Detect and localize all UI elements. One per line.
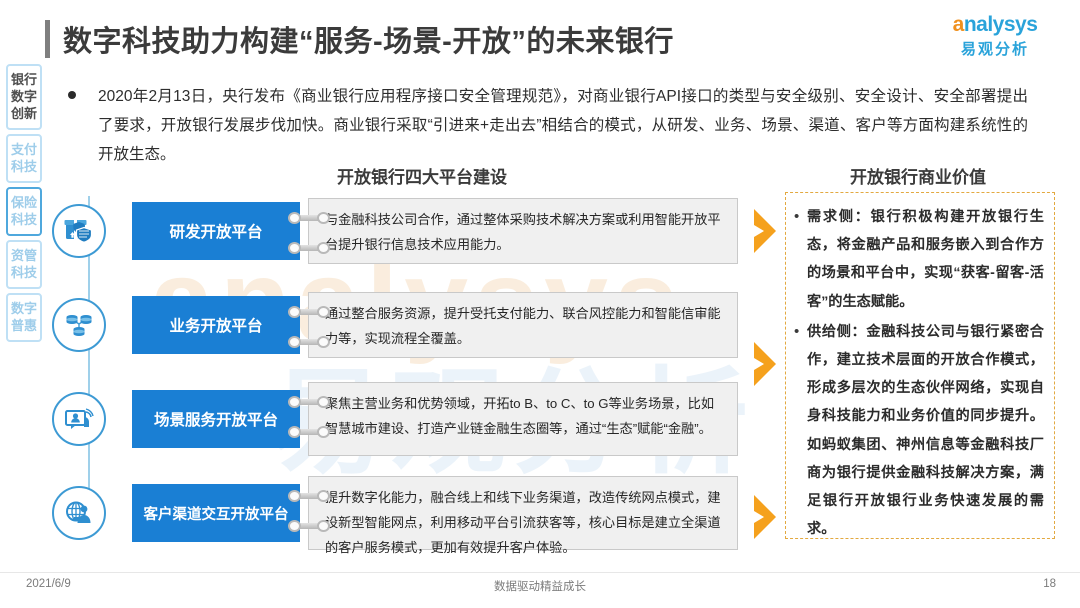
left-column-header: 开放银行四大平台建设 [337,163,507,188]
chain-link-icon [288,212,330,256]
title-accent-bar [45,20,50,58]
business-value-text: 需求侧：银行积极构建开放银行生态，将金融产品和服务嵌入到合作方的场景和平台中，实… [807,203,1044,316]
intro-paragraph: 2020年2月13日，央行发布《商业银行应用程序接口安全管理规范》，对商业银行A… [68,82,1028,169]
arrow-right-icon-1 [752,207,786,255]
footer-tagline: 数据驱动精益成长 [0,578,1080,594]
sidebar-item-payment-tech[interactable]: 支付科技 [6,134,42,183]
platform-description-4: 提升数字化能力，融合线上和线下业务渠道，改造传统网点模式，建设新型智能网点，利用… [308,476,738,550]
sidebar-item-bank-digital-innovation[interactable]: 银行数字创新 [6,64,42,130]
sidebar-item-label: 资管科技 [11,248,37,280]
chain-link-icon [288,306,330,350]
sidebar-item-label: 支付科技 [11,142,37,174]
arrow-right-icon-3 [752,493,786,541]
platform-description-text: 提升数字化能力，融合线上和线下业务渠道，改造传统网点模式，建设新型智能网点，利用… [325,490,721,555]
platform-name-1[interactable]: 研发开放平台 [132,202,300,260]
platform-description-text: 通过整合服务资源，提升受托支付能力、联合风控能力和智能信审能力等，实现流程全覆盖… [325,306,721,346]
title-text: 数字科技助力构建“服务-场景-开放”的未来银行 [63,18,674,60]
chain-link-icon [288,396,330,440]
platform-name-label: 客户渠道交互开放平台 [144,503,289,524]
business-value-item-1: • 需求侧：银行积极构建开放银行生态，将金融产品和服务嵌入到合作方的场景和平台中… [794,203,1044,316]
logo-chinese: 易观分析 [930,38,1060,59]
platform-name-3[interactable]: 场景服务开放平台 [132,390,300,448]
bullet-icon: • [794,318,804,544]
business-value-item-2: • 供给侧：金融科技公司与银行紧密合作，建立技术层面的开放合作模式，形成多层次的… [794,318,1044,544]
video-customer-icon [52,392,106,446]
platform-description-1: 与金融科技公司合作，通过整体采购技术解决方案或利用智能开放平台提升银行信息技术应… [308,198,738,264]
database-merge-icon [52,298,106,352]
sidebar-tabs: 银行数字创新 支付科技 保险科技 资管科技 数字普惠 [6,64,40,346]
bullet-icon: • [794,203,804,316]
sidebar-item-digital-inclusive-finance[interactable]: 数字普惠 [6,293,42,342]
platform-row-3: 场景服务开放平台 聚焦主营业务和优势领域，开拓to B、to C、to G等业务… [52,382,738,456]
platform-row-4: 客户渠道交互开放平台 提升数字化能力，融合线上和线下业务渠道，改造传统网点模式，… [52,476,738,550]
package-shield-icon [52,204,106,258]
sidebar-item-label: 保险科技 [11,195,37,227]
logo-rest: nalysys [964,13,1038,36]
platform-description-text: 聚焦主营业务和优势领域，开拓to B、to C、to G等业务场景，比如智慧城市… [325,396,714,436]
platform-row-2: 业务开放平台 通过整合服务资源，提升受托支付能力、联合风控能力和智能信审能力等，… [52,292,738,358]
platform-name-2[interactable]: 业务开放平台 [132,296,300,354]
business-value-text: 供给侧：金融科技公司与银行紧密合作，建立技术层面的开放合作模式，形成多层次的生态… [807,318,1044,544]
intro-text: 2020年2月13日，央行发布《商业银行应用程序接口安全管理规范》，对商业银行A… [98,82,1028,169]
platform-description-3: 聚焦主营业务和优势领域，开拓to B、to C、to G等业务场景，比如智慧城市… [308,382,738,456]
page-title: 数字科技助力构建“服务-场景-开放”的未来银行 [45,18,674,60]
platform-name-label: 研发开放平台 [169,220,262,242]
footer-page-number: 18 [1043,578,1056,590]
logo-wordmark: analysys [930,14,1060,35]
sidebar-item-label: 银行数字创新 [11,72,37,121]
footer-divider [0,572,1080,573]
platform-row-1: 研发开放平台 与金融科技公司合作，通过整体采购技术解决方案或利用智能开放平台提升… [52,198,738,264]
platform-description-2: 通过整合服务资源，提升受托支付能力、联合风控能力和智能信审能力等，实现流程全覆盖… [308,292,738,358]
platform-description-text: 与金融科技公司合作，通过整体采购技术解决方案或利用智能开放平台提升银行信息技术应… [325,212,721,252]
bullet-dot-icon [68,91,76,99]
right-column-header: 开放银行商业价值 [850,163,986,188]
analysys-logo: analysys 易观分析 [930,14,1060,59]
platform-name-label: 场景服务开放平台 [154,408,278,430]
sidebar-item-label: 数字普惠 [11,301,37,333]
logo-initial: a [953,13,964,36]
platform-name-4[interactable]: 客户渠道交互开放平台 [132,484,300,542]
arrow-right-icon-2 [752,340,786,388]
platform-name-label: 业务开放平台 [169,314,262,336]
chain-link-icon [288,490,330,534]
slide-root: analysys 易观分析 数字科技助力构建“服务-场景-开放”的未来银行 an… [0,0,1080,608]
globe-user-icon [52,486,106,540]
business-value-panel: • 需求侧：银行积极构建开放银行生态，将金融产品和服务嵌入到合作方的场景和平台中… [785,192,1055,539]
sidebar-item-insurance-tech[interactable]: 保险科技 [6,187,42,236]
sidebar-item-asset-management-tech[interactable]: 资管科技 [6,240,42,289]
